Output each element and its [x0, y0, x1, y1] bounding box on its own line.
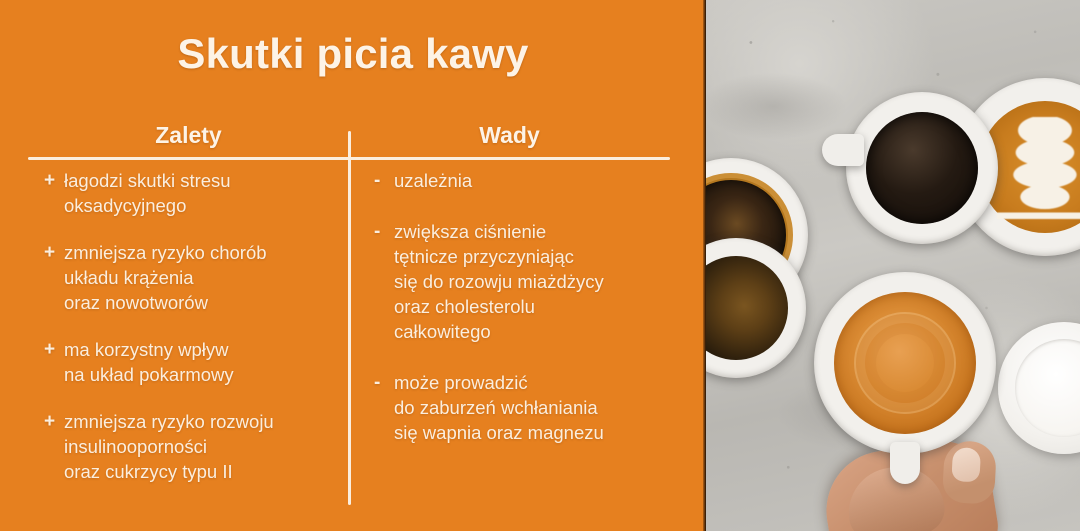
column-cons: - uzależnia - zwiększa ciśnienie tętnicz… [348, 168, 706, 506]
plus-icon: + [44, 337, 64, 362]
list-item: - uzależnia [374, 168, 696, 193]
plus-icon: + [44, 240, 64, 265]
list-item-text: uzależnia [394, 168, 696, 193]
list-item: - zwiększa ciśnienie tętnicze przyczynia… [374, 219, 696, 344]
column-header-pros: Zalety [28, 122, 349, 149]
crema-swirl [854, 312, 956, 414]
minus-icon: - [374, 168, 394, 193]
list-item-text: zwiększa ciśnienie tętnicze przyczyniają… [394, 219, 696, 344]
minus-icon: - [374, 370, 394, 395]
page-title: Skutki picia kawy [0, 30, 706, 78]
slide: Skutki picia kawy Zalety Wady + łagodzi … [0, 0, 1080, 531]
coffee-surface [706, 256, 788, 360]
list-item-text: zmniejsza ryzyko chorób układu krążenia … [64, 240, 338, 315]
coffee-photo [706, 0, 1080, 531]
list-item: + ma korzystny wpływ na układ pokarmowy [44, 337, 338, 387]
cup-handle [890, 442, 920, 484]
list-item-text: zmniejsza ryzyko rozwoju insulinoopornoś… [64, 409, 338, 484]
list-item: + zmniejsza ryzyko rozwoju insulinooporn… [44, 409, 338, 484]
coffee-surface [866, 112, 979, 225]
column-pros: + łagodzi skutki stresu oksadycyjnego + … [0, 168, 348, 506]
black-coffee-cup-top [846, 92, 998, 244]
list-item-text: łagodzi skutki stresu oksadycyjnego [64, 168, 338, 218]
espresso-crema-cup [814, 272, 996, 454]
content-panel: Skutki picia kawy Zalety Wady + łagodzi … [0, 0, 706, 531]
list-item: - może prowadzić do zaburzeń wchłaniania… [374, 370, 696, 445]
latte-art-pattern [997, 117, 1080, 227]
plus-icon: + [44, 409, 64, 434]
list-item-text: może prowadzić do zaburzeń wchłaniania s… [394, 370, 696, 445]
list-item: + zmniejsza ryzyko chorób układu krążeni… [44, 240, 338, 315]
comparison-columns: + łagodzi skutki stresu oksadycyjnego + … [0, 168, 706, 506]
list-item: + łagodzi skutki stresu oksadycyjnego [44, 168, 338, 218]
thumbnail [951, 447, 981, 482]
plus-icon: + [44, 168, 64, 193]
column-header-cons: Wady [349, 122, 670, 149]
list-item-text: ma korzystny wpływ na układ pokarmowy [64, 337, 338, 387]
minus-icon: - [374, 219, 394, 244]
cup-handle [822, 134, 864, 166]
